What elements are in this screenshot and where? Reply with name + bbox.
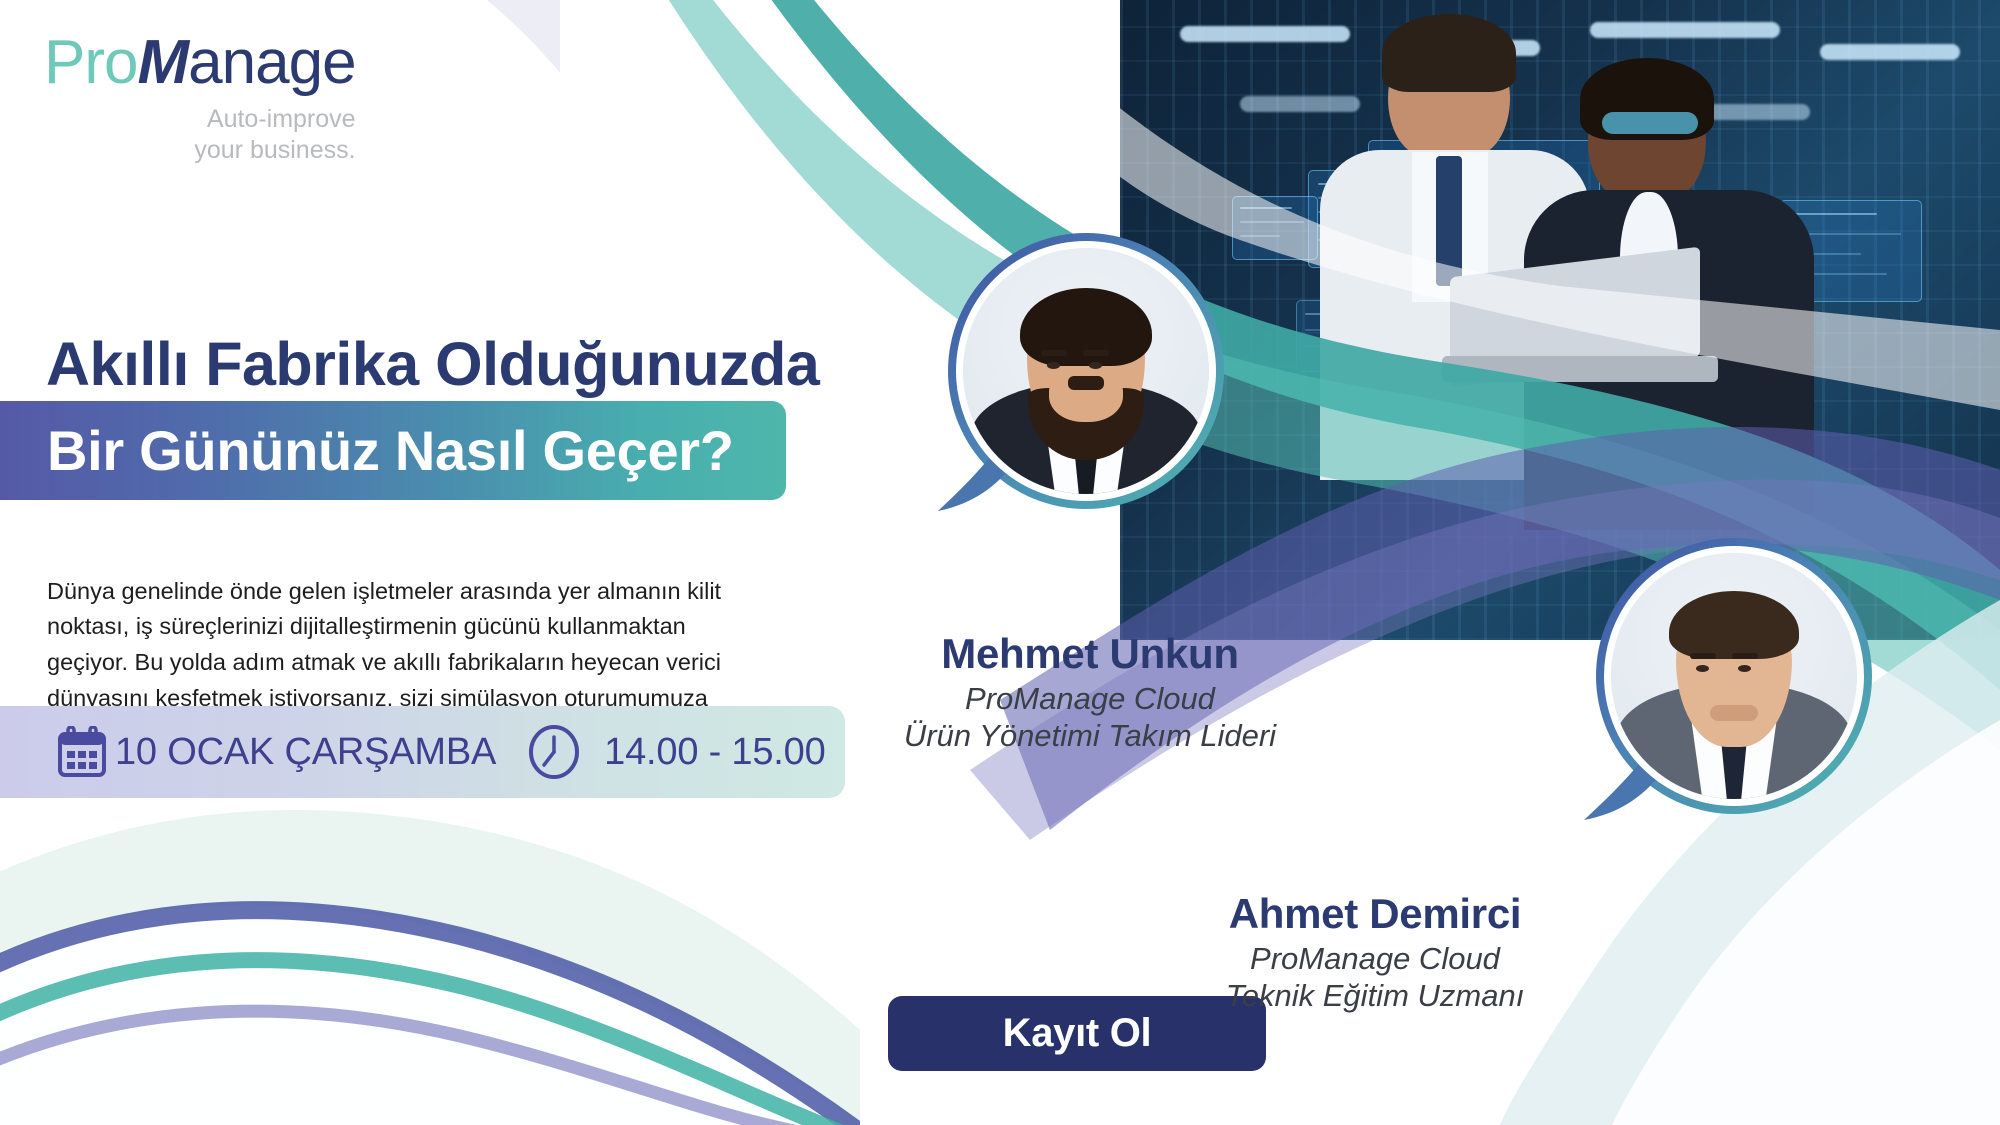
logo-wordmark: ProManage <box>44 32 356 94</box>
headline-line-1: Akıllı Fabrika Olduğunuzda <box>46 329 819 399</box>
event-date-group: 10 OCAK ÇARŞAMBA <box>0 726 496 778</box>
speaker-caption-ahmet-demirci: Ahmet Demirci ProManage Cloud Teknik Eği… <box>1030 890 1720 1014</box>
speaker-role: Teknik Eğitim Uzmanı <box>1030 978 1720 1014</box>
brand-logo: ProManage Auto-improve your business. <box>44 32 356 167</box>
speaker-org: ProManage Cloud <box>760 681 1420 717</box>
logo-manage-text: anage <box>188 28 355 97</box>
speaker-caption-mehmet-unkun: Mehmet Unkun ProManage Cloud Ürün Yöneti… <box>760 630 1420 754</box>
webinar-poster: ProManage Auto-improve your business. Ak… <box>0 0 2000 1125</box>
tagline-line-2: your business. <box>44 135 356 166</box>
clock-icon <box>526 724 582 780</box>
speaker-role: Ürün Yönetimi Takım Lideri <box>760 718 1420 754</box>
headline-banner: Bir Gününüz Nasıl Geçer? <box>0 401 786 500</box>
calendar-icon <box>57 726 107 778</box>
brand-tagline: Auto-improve your business. <box>44 104 356 167</box>
headline-line-2: Bir Gününüz Nasıl Geçer? <box>47 418 734 483</box>
event-datetime-bar: 10 OCAK ÇARŞAMBA 14.00 - 15.00 <box>0 706 845 798</box>
tagline-line-1: Auto-improve <box>44 104 356 135</box>
logo-m-glyph: M <box>137 28 188 97</box>
avatar-photo <box>1604 546 1864 806</box>
speaker-avatar-ahmet-demirci <box>1596 538 1872 814</box>
event-date-label: 10 OCAK ÇARŞAMBA <box>115 731 496 774</box>
speaker-avatar-mehmet-unkun <box>948 233 1224 509</box>
logo-pro-text: Pro <box>44 28 137 97</box>
avatar-photo <box>956 241 1216 501</box>
speaker-name: Ahmet Demirci <box>1030 890 1720 938</box>
speaker-org: ProManage Cloud <box>1030 941 1720 977</box>
speaker-name: Mehmet Unkun <box>760 630 1420 678</box>
background-white-curve <box>0 0 810 1125</box>
